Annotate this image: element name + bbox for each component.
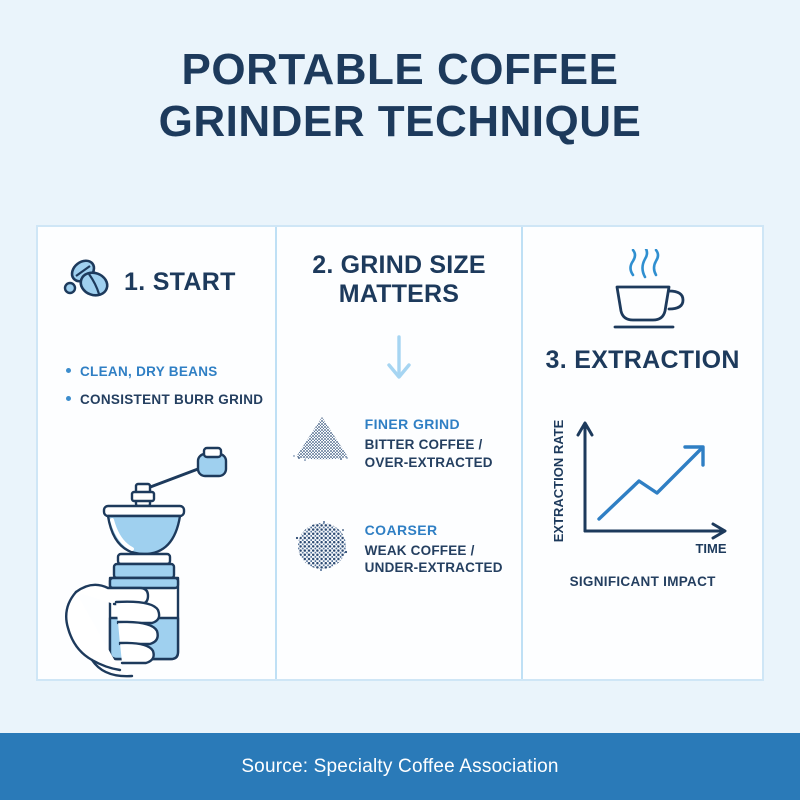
column-start: 1. START CLEAN, DRY BEANS CONSISTENT BUR… [38,227,275,679]
source-text: Source: Specialty Coffee Association [241,756,558,778]
grind-item-finer: FINER GRIND BITTER COFFEE / OVER-EXTRACT… [277,414,522,472]
infographic-card: 1. START CLEAN, DRY BEANS CONSISTENT BUR… [36,225,764,681]
coffee-beans-icon [62,257,116,308]
title-line-2: GRINDER TECHNIQUE [0,96,800,148]
coffee-cup-steam-icon [523,227,762,340]
coarser-grind-desc-1: WEAK COFFEE / [365,542,503,560]
footer-bar: Source: Specialty Coffee Association [0,733,800,800]
coarser-grind-text: COARSER WEAK COFFEE / UNDER-EXTRACTED [365,520,503,578]
list-item: CONSISTENT BURR GRIND [66,392,275,407]
title-line-1: PORTABLE COFFEE [0,44,800,96]
start-heading: 1. START [124,268,236,297]
hand-holding-manual-grinder-illustration [48,442,276,683]
extraction-rate-chart: EXTRACTION RATE TIME SIGNIFICANT IMPACT [523,403,762,589]
bullet-dot-icon [66,368,71,373]
fine-grind-cone-icon [291,414,353,467]
finer-grind-label: FINER GRIND [365,416,493,432]
grind-heading-line-2: MATTERS [295,280,504,309]
bullet-label: CONSISTENT BURR GRIND [80,392,263,407]
finer-grind-desc-1: BITTER COFFEE / [365,436,493,454]
bullet-label: CLEAN, DRY BEANS [80,364,218,379]
page-title: PORTABLE COFFEE GRINDER TECHNIQUE [0,0,800,148]
coarser-grind-label: COARSER [365,522,503,538]
coarse-grind-scatter-icon [291,520,353,577]
finer-grind-text: FINER GRIND BITTER COFFEE / OVER-EXTRACT… [365,414,493,472]
grind-heading-line-1: 2. GRIND SIZE [295,251,504,280]
extraction-heading: 3. EXTRACTION [523,346,762,375]
chart-caption: SIGNIFICANT IMPACT [523,574,762,589]
chart-ylabel: EXTRACTION RATE [551,419,566,542]
grind-heading: 2. GRIND SIZE MATTERS [277,227,522,309]
coarser-grind-desc-2: UNDER-EXTRACTED [365,559,503,577]
finer-grind-desc-2: OVER-EXTRACTED [365,454,493,472]
down-arrow-icon [277,335,522,388]
column-extraction: 3. EXTRACTION EXTRACTION RATE TIM [523,227,762,679]
grind-item-coarser: COARSER WEAK COFFEE / UNDER-EXTRACTED [277,520,522,578]
start-bullet-list: CLEAN, DRY BEANS CONSISTENT BURR GRIND [38,308,275,407]
bullet-dot-icon [66,396,71,401]
start-header: 1. START [38,227,275,308]
list-item: CLEAN, DRY BEANS [66,364,275,379]
chart-xlabel: TIME [695,541,726,556]
column-grind: 2. GRIND SIZE MATTERS [277,227,522,679]
